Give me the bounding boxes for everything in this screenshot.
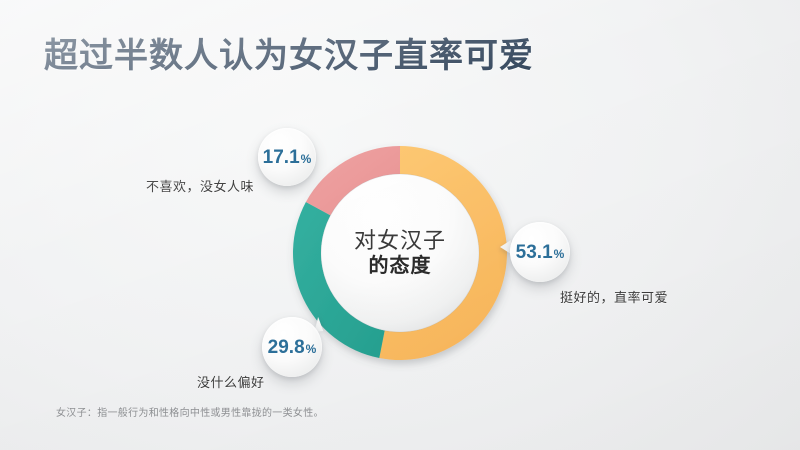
donut-chart: 对女汉子 的态度 — [292, 127, 508, 379]
callout-number-dislike: 17.1 — [263, 147, 300, 168]
callout-bubble-dislike[interactable]: 17.1% — [258, 128, 316, 186]
page-title: 超过半数人认为女汉子直率可爱 — [44, 28, 534, 77]
donut-center-disc — [321, 174, 479, 332]
callout-number-neutral: 29.8 — [268, 337, 305, 358]
callout-symbol-dislike: % — [301, 152, 312, 166]
callout-bubble-neutral[interactable]: 29.8% — [262, 317, 322, 377]
category-label-dislike: 不喜欢，没女人味 — [146, 176, 254, 195]
callout-symbol-neutral: % — [306, 342, 317, 356]
footnote: 女汉子：指一般行为和性格向中性或男性靠拢的一类女性。 — [56, 404, 324, 419]
callout-value-neutral: 29.8% — [268, 338, 317, 357]
donut-chart-svg — [292, 127, 508, 379]
callout-bubble-like[interactable]: 53.1% — [510, 222, 570, 282]
category-label-like: 挺好的，直率可爱 — [560, 287, 668, 306]
callout-number-like: 53.1 — [516, 242, 553, 263]
category-label-neutral: 没什么偏好 — [197, 372, 265, 391]
slide-canvas: 超过半数人认为女汉子直率可爱 — [0, 0, 800, 450]
callout-value-dislike: 17.1% — [263, 148, 312, 167]
callout-value-like: 53.1% — [516, 243, 565, 262]
callout-symbol-like: % — [554, 247, 565, 261]
